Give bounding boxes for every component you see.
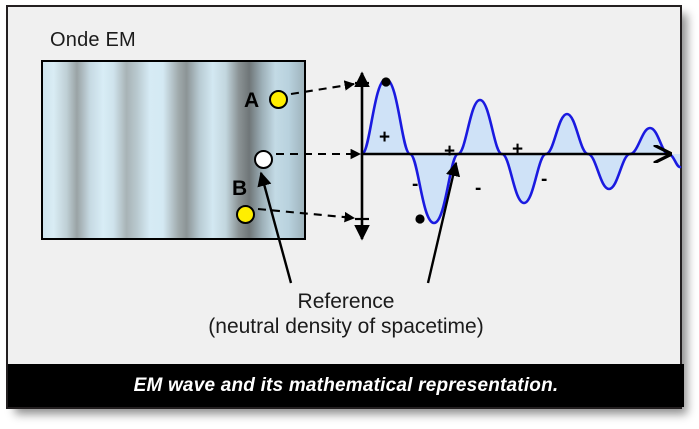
caption-bar: EM wave and its mathematical representat… <box>8 364 684 407</box>
caption-text: EM wave and its mathematical representat… <box>134 375 559 397</box>
sign-positive-2: + <box>444 142 455 161</box>
particle-b-label: B <box>232 177 247 201</box>
particle-a-label: A <box>244 89 259 113</box>
sign-negative-3: - <box>541 170 547 189</box>
sign-positive-3: + <box>512 140 523 159</box>
figure-frame: Onde EM A B + - + - + - <box>6 5 682 409</box>
particle-reference <box>254 150 273 169</box>
page-title: Onde EM <box>50 29 136 52</box>
trough-marker-dot <box>415 214 424 223</box>
particle-b <box>236 205 255 224</box>
particle-a <box>269 90 288 109</box>
reference-label: Reference <box>8 290 684 314</box>
pointer-to-zero-crossing <box>428 163 456 283</box>
sign-negative-2: - <box>475 179 481 198</box>
peak-marker-dot <box>381 77 390 86</box>
sign-positive-1: + <box>379 128 390 147</box>
reference-sublabel: (neutral density of spacetime) <box>8 315 684 339</box>
sign-negative-1: - <box>412 175 418 194</box>
